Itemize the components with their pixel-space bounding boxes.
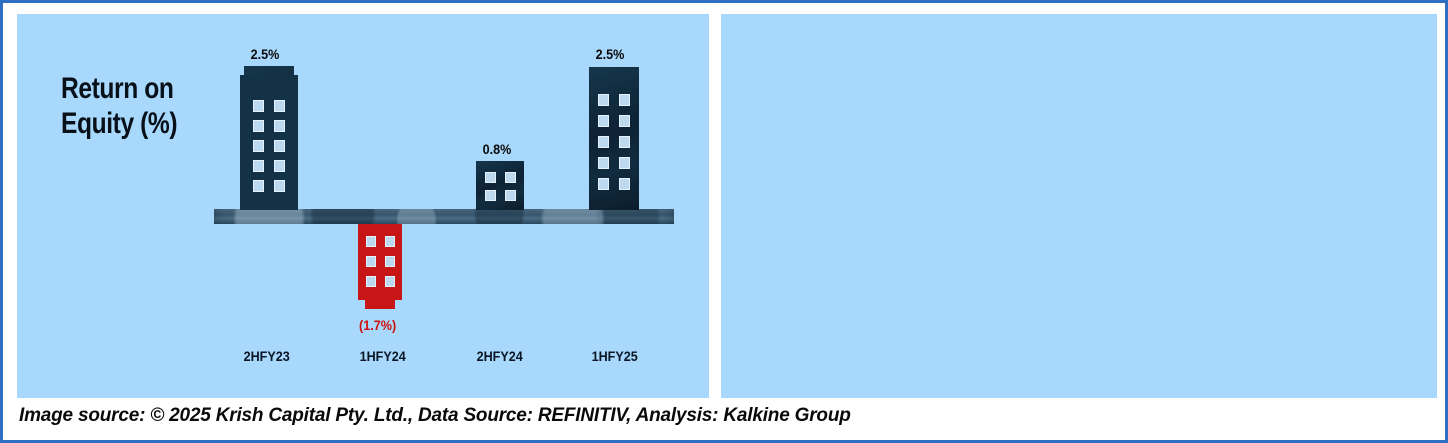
window-icon [619,115,630,127]
value-label-roe-3: 2.5% [596,46,625,62]
window-grid [476,161,524,210]
window-icon [274,160,285,172]
window-grid [589,67,639,210]
window-icon [485,172,496,183]
window-icon [505,190,516,201]
window-icon [598,157,609,169]
window-grid [358,224,402,300]
window-icon [385,256,395,267]
window-icon [598,115,609,127]
window-icon [253,100,264,112]
window-icon [619,94,630,106]
xaxis-label-roe-2: 2HFY24 [477,348,523,364]
bar-roe-1hfy24-negative [358,224,402,300]
bar-roe-2hfy23 [244,66,294,210]
window-icon [253,140,264,152]
window-icon [619,157,630,169]
xaxis-label-roe-3: 1HFY25 [592,348,638,364]
window-icon [619,136,630,148]
value-label-roe-2: 0.8% [483,141,512,157]
window-icon [598,136,609,148]
window-icon [274,100,285,112]
xaxis-label-roe-1: 1HFY24 [360,348,406,364]
bar-foot [365,300,395,309]
bar-roe-1hfy25 [589,67,639,210]
window-icon [274,140,285,152]
window-icon [619,178,630,190]
infographic-root: Return on Equity (%) 2.5% [0,0,1448,443]
xaxis-label-roe-0: 2HFY23 [244,348,290,364]
window-icon [253,180,264,192]
window-icon [253,160,264,172]
window-icon [366,236,376,247]
panel-return-on-equity: Return on Equity (%) 2.5% [17,14,709,398]
panel-ebitda-margin: EBITDA Margin (%) Margins were driven by… [721,14,1437,398]
window-icon [505,172,516,183]
window-icon [366,276,376,287]
value-label-roe-0: 2.5% [251,46,280,62]
ground-platform-left [214,209,674,224]
window-icon [385,276,395,287]
window-icon [274,120,285,132]
bar-roe-2hfy24 [476,161,524,210]
window-icon [598,178,609,190]
window-icon [485,190,496,201]
window-icon [274,180,285,192]
window-icon [366,256,376,267]
window-icon [385,236,395,247]
window-icon [598,94,609,106]
page-title-return-on-equity: Return on Equity (%) [61,72,177,141]
window-grid [244,66,294,210]
window-icon [253,120,264,132]
value-label-roe-1: (1.7%) [359,317,396,333]
image-source-caption: Image source: © 2025 Krish Capital Pty. … [19,405,851,427]
